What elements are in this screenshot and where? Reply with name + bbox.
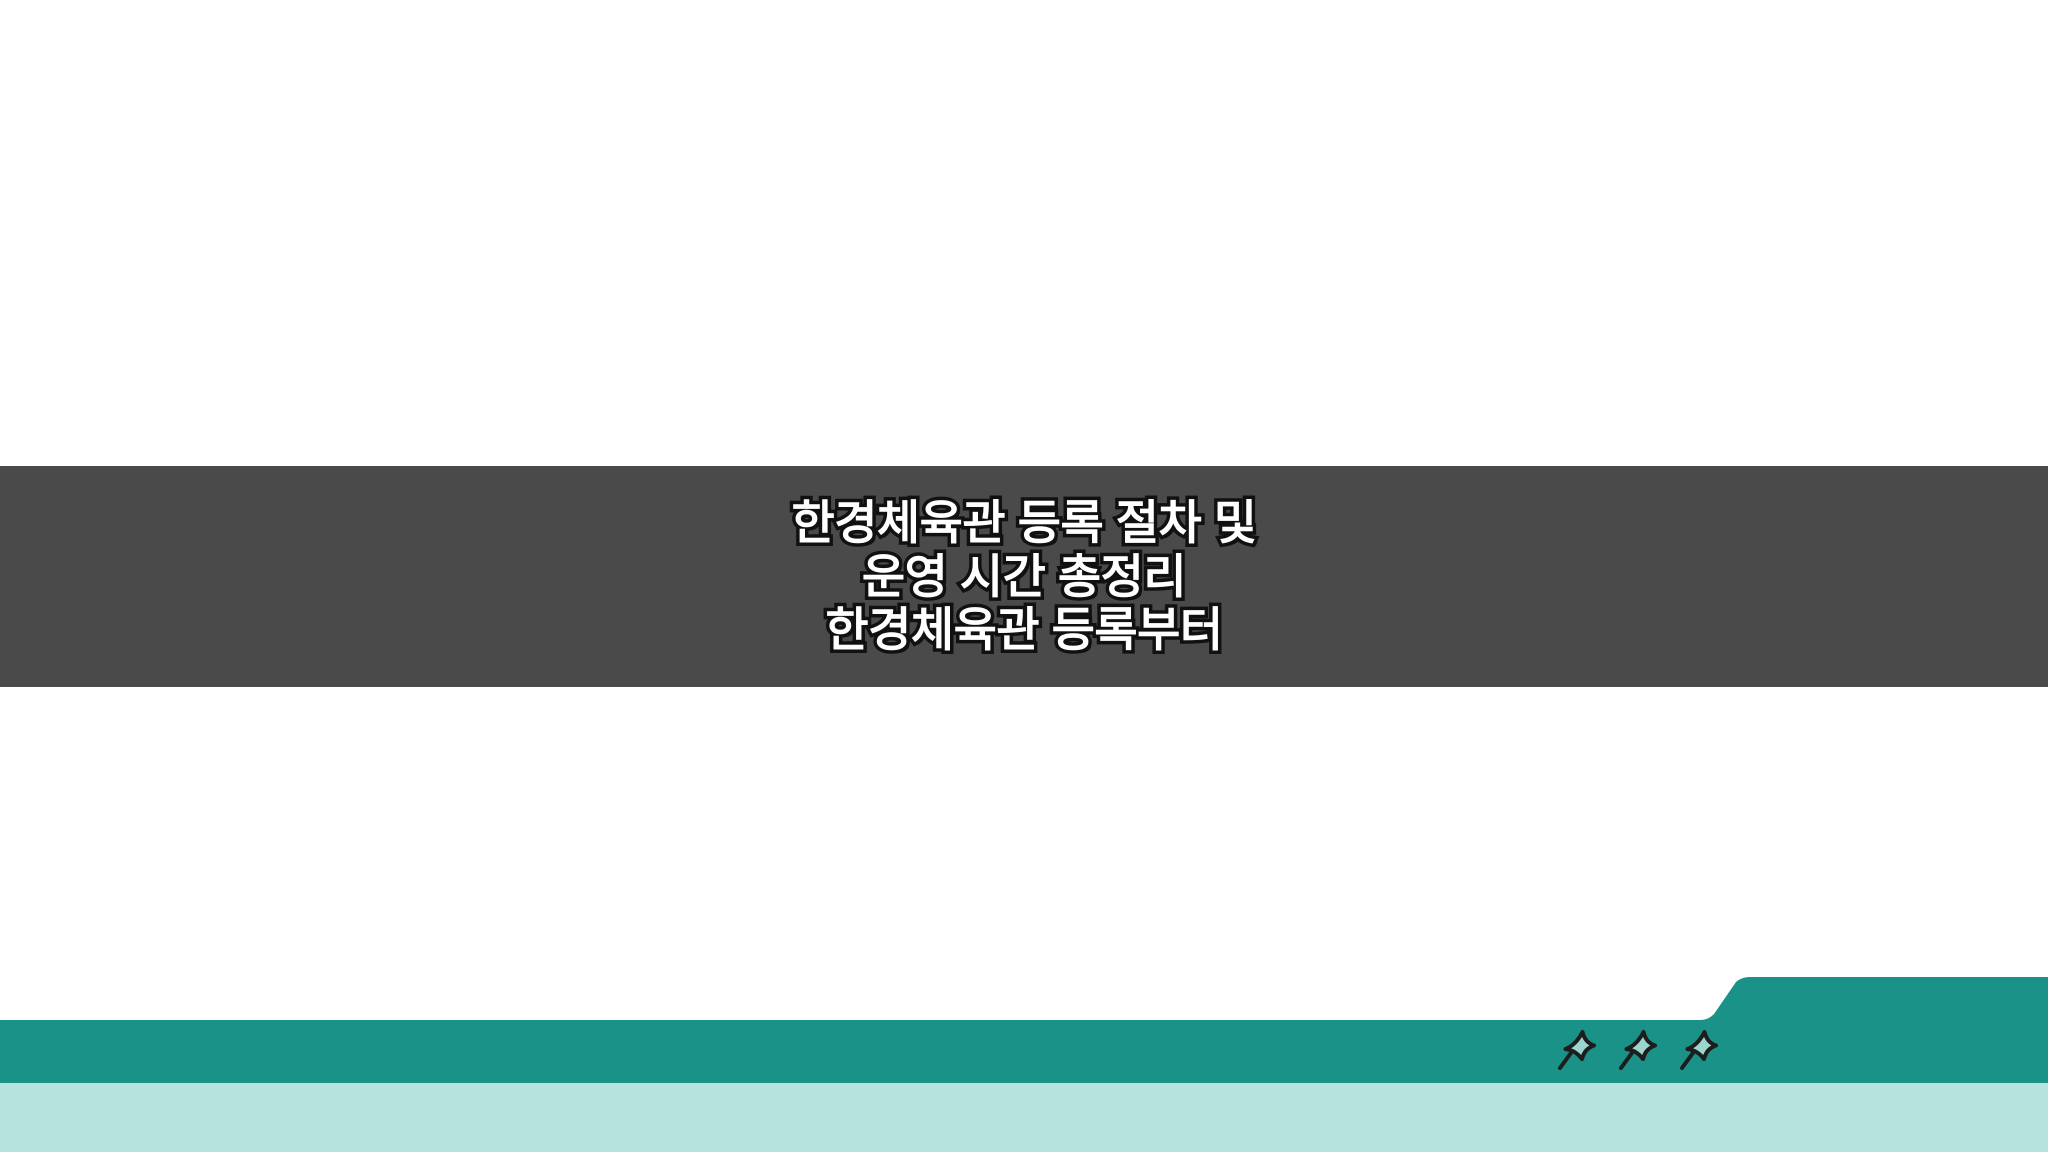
sparkle-pin-icon <box>1617 1028 1659 1076</box>
slide-canvas: 한경체육관 등록 절차 및 운영 시간 총정리 한경체육관 등록부터 <box>0 0 2048 1152</box>
title-banner: 한경체육관 등록 절차 및 운영 시간 총정리 한경체육관 등록부터 <box>0 466 2048 687</box>
page-title: 한경체육관 등록 절차 및 운영 시간 총정리 한경체육관 등록부터 <box>791 496 1256 657</box>
footer-teal-path <box>0 977 2048 1083</box>
footer-icon-row <box>1556 1024 1726 1080</box>
title-line-1: 한경체육관 등록 절차 및 <box>791 496 1256 550</box>
title-line-2: 운영 시간 총정리 <box>791 550 1256 604</box>
footer-light-teal-band <box>0 1083 2048 1152</box>
footer-teal-bar <box>0 960 2048 1090</box>
sparkle-pin-icon <box>1556 1028 1598 1076</box>
sparkle-pin-icon <box>1678 1028 1720 1076</box>
title-line-3: 한경체육관 등록부터 <box>791 603 1256 657</box>
